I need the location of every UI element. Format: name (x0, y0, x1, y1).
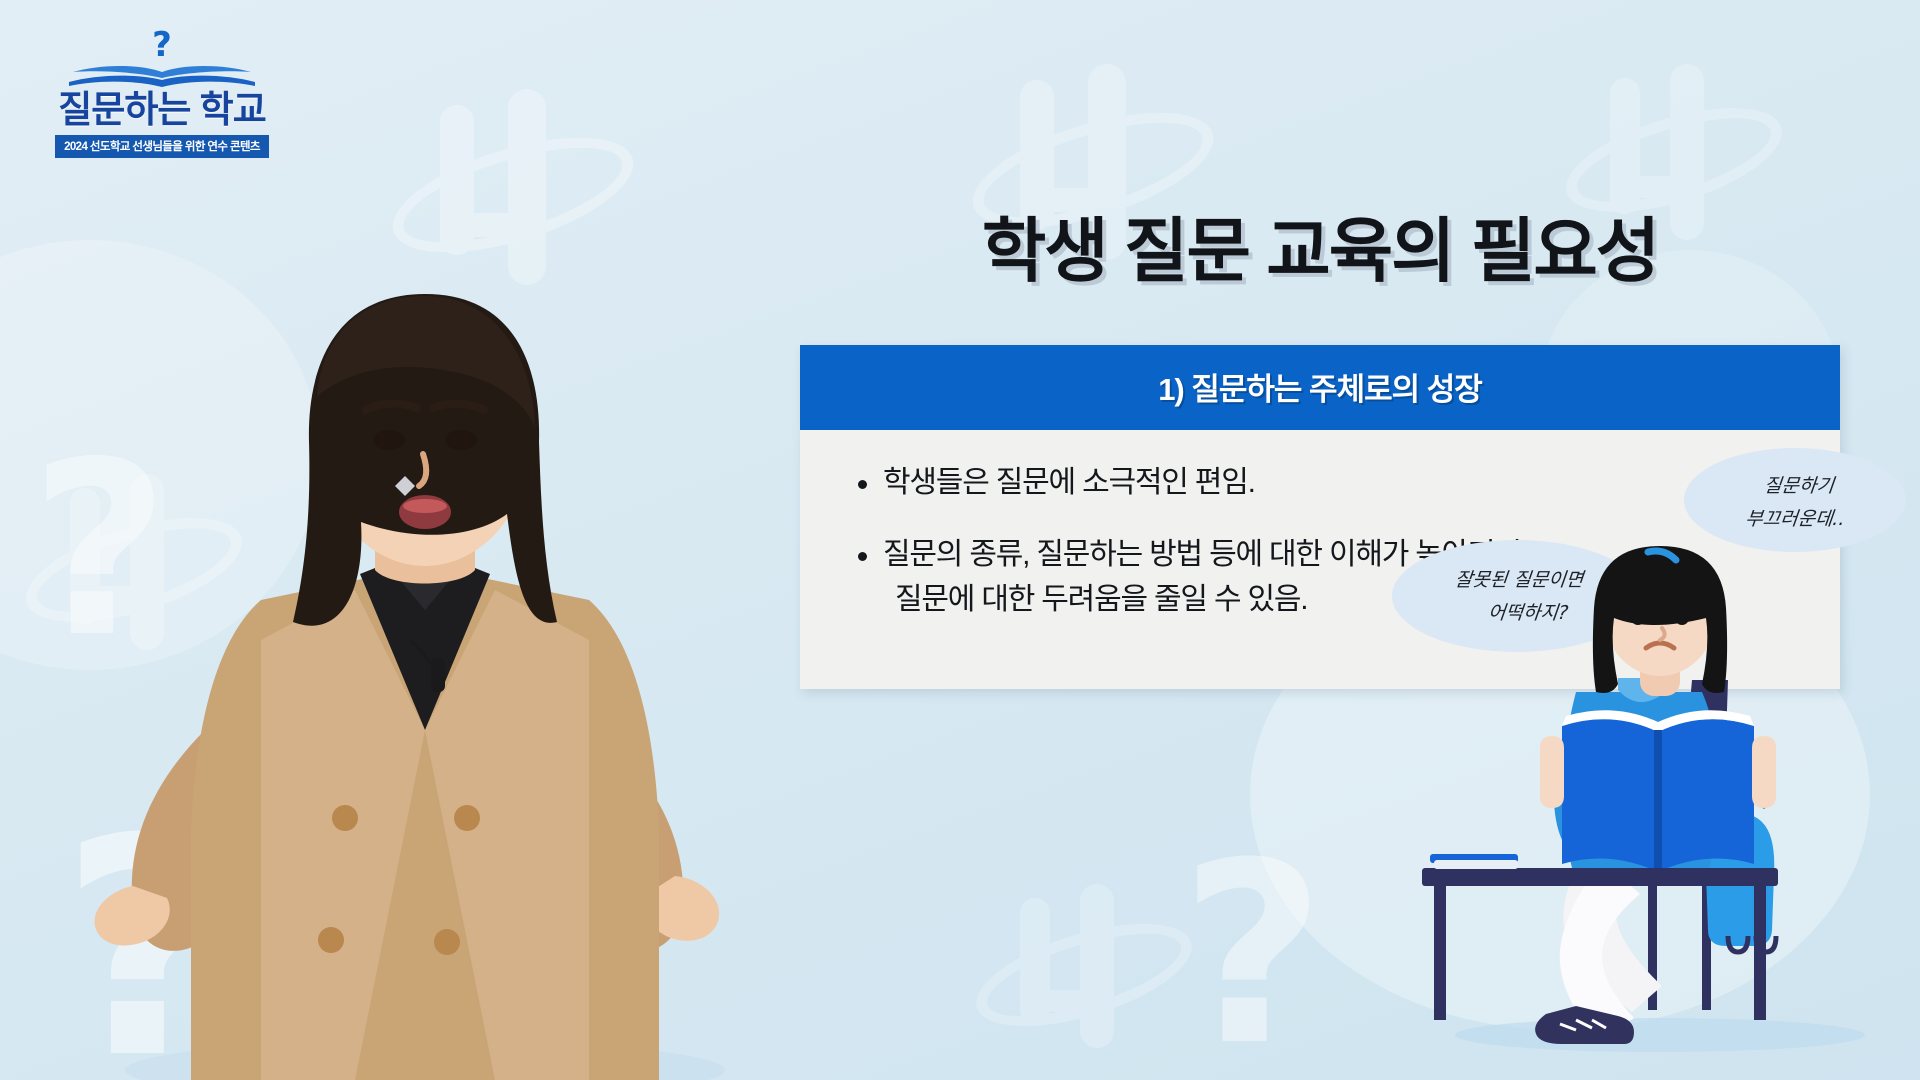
presenter-video (55, 170, 795, 1080)
card-header: 1) 질문하는 주체로의 성장 (800, 345, 1840, 430)
watermark-question-mark: ? (1180, 830, 1325, 1080)
logo-subtitle: 2024 선도학교 선생님들을 위한 연수 콘텐츠 (55, 135, 269, 158)
bullet-dot-icon (858, 480, 867, 489)
watermark-bieup-icon (1010, 880, 1160, 1050)
logo-title: 질문하는 학교 (48, 91, 276, 130)
logo-question-mark-icon: ? (48, 28, 276, 62)
bullet-dot-icon (858, 552, 867, 561)
open-book-icon (48, 64, 276, 90)
slide-stage: ? ? ? ? ? (0, 0, 1920, 1080)
bubble-line-1: 질문하기 (1682, 470, 1907, 503)
bullet-line: 학생들은 질문에 소극적인 편임. (883, 466, 1255, 499)
student-illustration: 잘못된 질문이면 어떡하지? 질문하기 부끄러운데.. (1410, 470, 1920, 1000)
brand-logo: ? 질문하는 학교 2024 선도학교 선생님들을 위한 연수 콘텐츠 (48, 28, 276, 158)
page-title: 학생 질문 교육의 필요성 (820, 195, 1820, 296)
student-at-desk-figure (1410, 530, 1920, 1060)
